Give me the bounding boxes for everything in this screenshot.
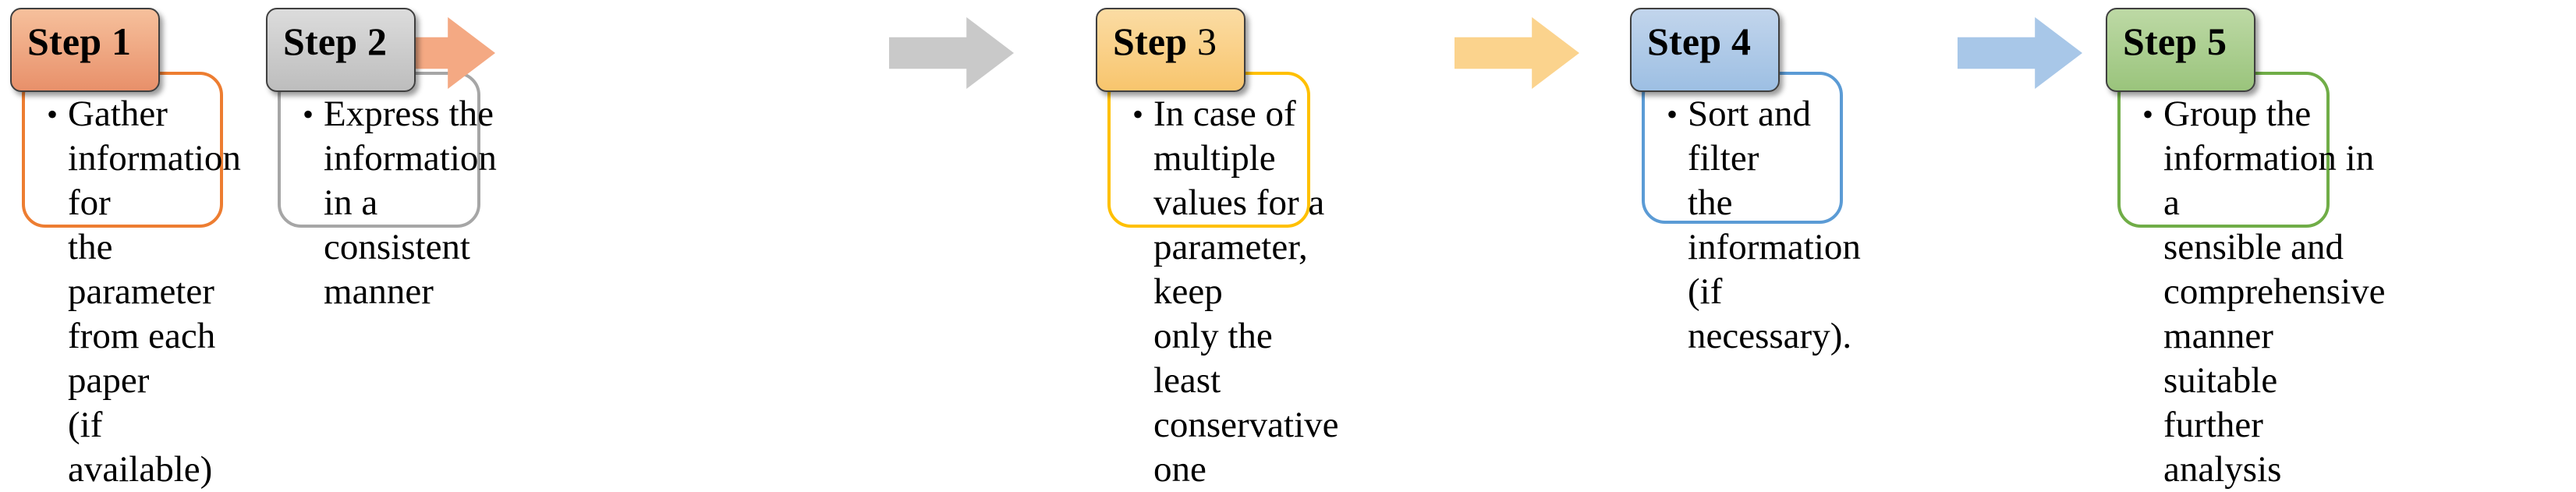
step-header-number-2: 2 (367, 19, 387, 63)
step-header-word-3: Step (1113, 19, 1187, 63)
step-header-label-4: Step 4 (1647, 20, 1751, 62)
bullet-item-3: •In case of multiple values for a parame… (1151, 92, 1293, 492)
bullet-text-3: In case of multiple values for a paramet… (1153, 92, 1339, 492)
step-body-card-2: •Express the information in a consistent… (278, 72, 480, 228)
step-header-tab-2: Step 2 (266, 8, 416, 92)
bullet-dot-icon: • (47, 92, 58, 136)
step-header-label-2: Step 2 (283, 20, 387, 62)
step-body-content-5: •Group the information in a sensible and… (2161, 92, 2312, 492)
process-flow-diagram: •Gather information for the parameter fr… (0, 0, 2576, 490)
step-header-number-4: 4 (1731, 19, 1751, 63)
step-header-tab-5: Step 5 (2106, 8, 2255, 92)
step-header-number-3: 3 (1197, 19, 1217, 63)
step-body-content-2: •Express the information in a consistent… (321, 92, 463, 314)
step-header-tab-3: Step 3 (1096, 8, 1245, 92)
flow-arrow-3-icon (1455, 17, 1579, 89)
flow-arrow-2-icon (889, 17, 1014, 89)
bullet-text-5: Group the information in a sensible and … (2163, 92, 2386, 492)
step-body-content-1: •Gather information for the parameter fr… (66, 92, 206, 492)
bullet-dot-icon: • (2142, 92, 2153, 136)
bullet-dot-icon: • (303, 92, 314, 136)
bullet-dot-icon: • (1667, 92, 1678, 136)
step-header-word-4: Step (1647, 19, 1721, 63)
step-header-label-1: Step 1 (27, 20, 131, 62)
step-body-card-5: •Group the information in a sensible and… (2117, 72, 2330, 228)
bullet-text-2: Express the information in a consistent … (324, 92, 497, 314)
step-header-number-5: 5 (2207, 19, 2227, 63)
step-body-content-3: •In case of multiple values for a parame… (1151, 92, 1293, 492)
bullet-dot-icon: • (1132, 92, 1143, 136)
step-header-label-3: Step 3 (1113, 20, 1217, 62)
bullet-item-4: •Sort and filter the information (if nec… (1685, 92, 1826, 359)
step-header-word-5: Step (2123, 19, 2197, 63)
step-header-number-1: 1 (112, 19, 131, 63)
bullet-text-4: Sort and filter the information (if nece… (1688, 92, 1861, 359)
step-body-card-1: •Gather information for the parameter fr… (22, 72, 223, 228)
step-header-word-2: Step (283, 19, 357, 63)
flow-arrow-4-icon (1958, 17, 2082, 89)
bullet-text-1: Gather information for the parameter fro… (68, 92, 241, 492)
step-header-word-1: Step (27, 19, 101, 63)
step-header-label-5: Step 5 (2123, 20, 2227, 62)
step-body-card-3: •In case of multiple values for a parame… (1107, 72, 1310, 228)
bullet-item-2: •Express the information in a consistent… (321, 92, 463, 314)
step-header-tab-4: Step 4 (1630, 8, 1780, 92)
step-body-content-4: •Sort and filter the information (if nec… (1685, 92, 1826, 359)
step-header-tab-1: Step 1 (10, 8, 160, 92)
step-body-card-4: •Sort and filter the information (if nec… (1642, 72, 1843, 224)
bullet-item-1: •Gather information for the parameter fr… (66, 92, 206, 492)
bullet-item-5: •Group the information in a sensible and… (2161, 92, 2312, 492)
